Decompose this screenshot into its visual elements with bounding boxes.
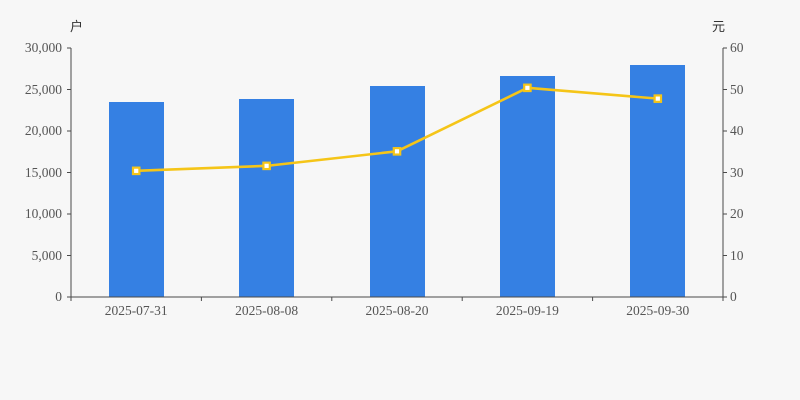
x-axis-tick-label: 2025-08-20 [366,303,429,319]
x-axis-tick-label: 2025-07-31 [105,303,168,319]
left-tick-label: 5,000 [32,249,62,263]
plot-area [71,48,723,297]
right-tick-label: 10 [730,249,744,263]
bar [630,65,685,297]
bar [109,102,164,297]
left-axis-tick-labels: 05,00010,00015,00020,00025,00030,000 [0,0,62,400]
x-axis-tick-label: 2025-09-30 [626,303,689,319]
right-axis-tick-labels: 0102030405060 [730,0,796,400]
left-tick-label: 0 [55,290,62,304]
left-tick-label: 15,000 [25,166,62,180]
x-axis-tick-label: 2025-09-19 [496,303,559,319]
right-tick-label: 30 [730,166,744,180]
left-tick-label: 10,000 [25,207,62,221]
left-axis-unit-label: 户 [70,16,83,35]
x-axis-tick-label: 2025-08-08 [235,303,298,319]
right-axis-unit-label: 元 [712,16,725,35]
right-tick-label: 40 [730,124,744,138]
left-tick-label: 25,000 [25,83,62,97]
right-tick-label: 50 [730,83,744,97]
left-tick-label: 20,000 [25,124,62,138]
chart-container: 户 元 05,00010,00015,00020,00025,00030,000… [0,0,800,400]
bar [370,86,425,297]
bar [500,76,555,297]
left-tick-label: 30,000 [25,41,62,55]
right-tick-label: 60 [730,41,744,55]
right-tick-label: 20 [730,207,744,221]
right-tick-label: 0 [730,290,737,304]
bar [239,99,294,297]
